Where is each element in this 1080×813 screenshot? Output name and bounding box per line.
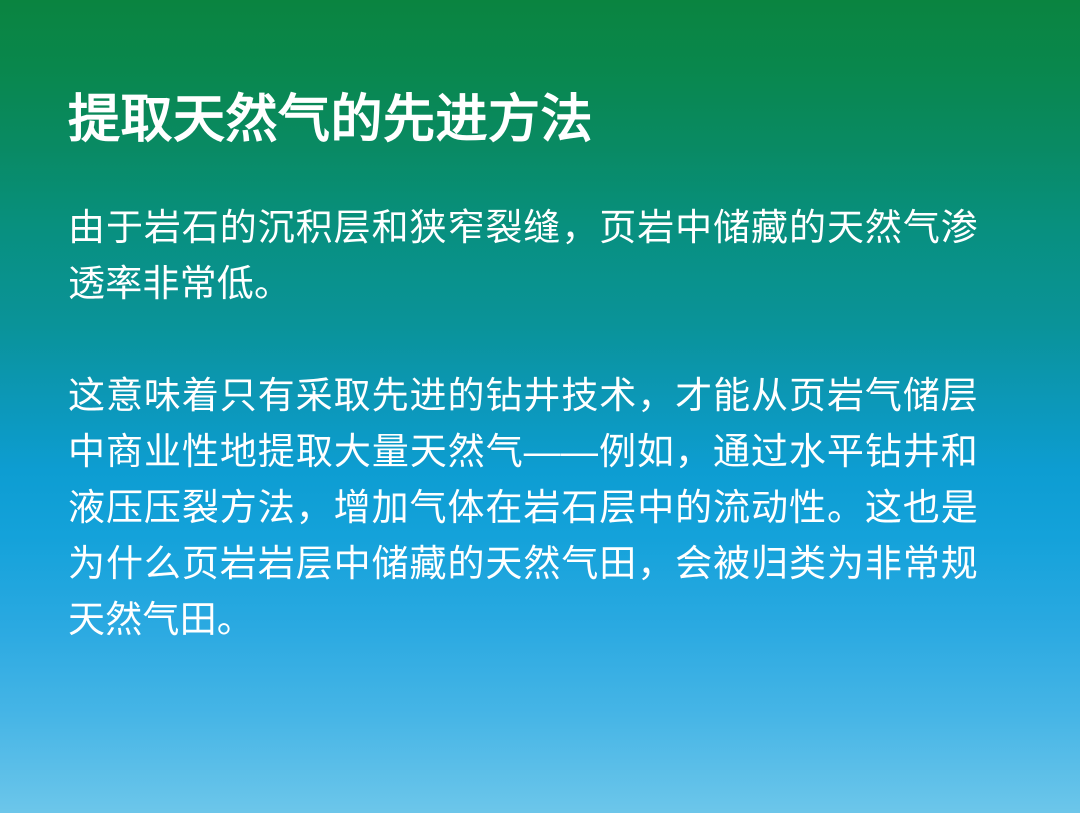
body-paragraph-2: 这意味着只有采取先进的钻井技术，才能从页岩气储层中商业性地提取大量天然气——例如… — [68, 368, 978, 648]
slide-canvas: 提取天然气的先进方法 由于岩石的沉积层和狭窄裂缝，页岩中储藏的天然气渗透率非常低… — [0, 0, 1080, 813]
page-title: 提取天然气的先进方法 — [68, 88, 978, 154]
body-paragraph-1: 由于岩石的沉积层和狭窄裂缝，页岩中储藏的天然气渗透率非常低。 — [68, 200, 978, 312]
slide-content: 提取天然气的先进方法 由于岩石的沉积层和狭窄裂缝，页岩中储藏的天然气渗透率非常低… — [68, 88, 978, 648]
slide-body: 由于岩石的沉积层和狭窄裂缝，页岩中储藏的天然气渗透率非常低。 这意味着只有采取先… — [68, 200, 978, 648]
